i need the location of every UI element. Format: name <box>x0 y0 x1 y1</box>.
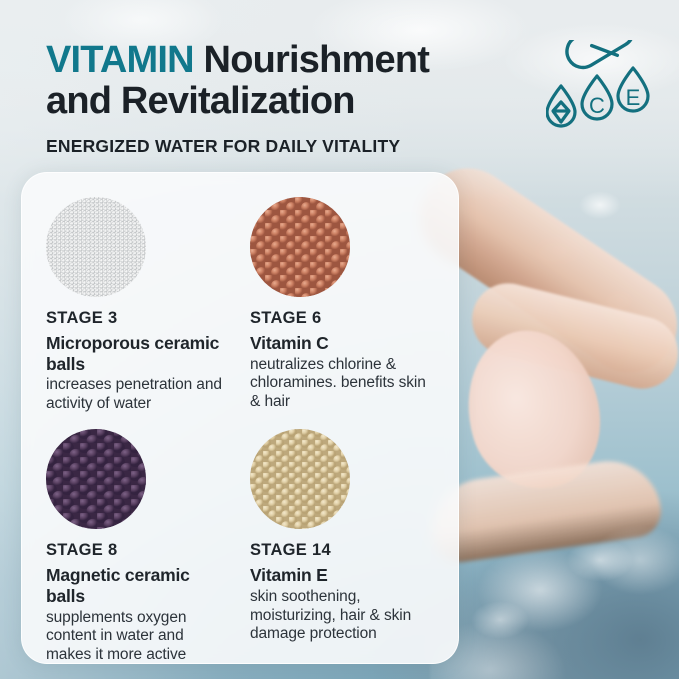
stage-name: Magnetic ceramic balls <box>46 565 232 606</box>
stage-desc: supplements oxygen content in water and … <box>46 609 232 665</box>
water-drop-gem-icon <box>547 86 575 126</box>
capsule-pill-icon <box>561 40 639 73</box>
bead-texture <box>46 197 146 297</box>
stage-name: Vitamin C <box>250 333 436 354</box>
stage-name: Vitamin E <box>250 565 436 586</box>
vitamin-e-balls-swatch <box>250 429 350 529</box>
microporous-ceramic-balls-swatch <box>46 197 146 297</box>
stage-card-8: STAGE 8 Magnetic ceramic balls supplemen… <box>46 429 232 664</box>
stage-desc: skin soothening, moisturizing, hair & sk… <box>250 588 436 644</box>
water-drop-c-icon: C <box>582 76 612 119</box>
water-drop-e-icon: E <box>618 68 648 111</box>
stages-grid: STAGE 3 Microporous ceramic balls increa… <box>46 197 436 647</box>
stage-card-14: STAGE 14 Vitamin E skin soothening, mois… <box>250 429 436 664</box>
title-line-2: and Revitalization <box>46 80 355 122</box>
stage-card-3: STAGE 3 Microporous ceramic balls increa… <box>46 197 232 413</box>
header: VITAMIN Nourishment and Revitalization E… <box>46 40 546 157</box>
page-subtitle: ENERGIZED WATER FOR DAILY VITALITY <box>46 136 546 157</box>
stage-label: STAGE 6 <box>250 309 436 328</box>
bead-texture <box>250 429 350 529</box>
stage-label: STAGE 14 <box>250 541 436 560</box>
title-accent-word: VITAMIN <box>46 39 194 81</box>
svg-text:E: E <box>626 85 641 110</box>
stage-desc: increases penetration and activity of wa… <box>46 376 232 413</box>
bead-texture <box>250 197 350 297</box>
magnetic-ceramic-balls-swatch <box>46 429 146 529</box>
stages-card: STAGE 3 Microporous ceramic balls increa… <box>21 172 459 664</box>
title-rest: Nourishment <box>194 39 429 81</box>
stage-card-6: STAGE 6 Vitamin C neutralizes chlorine &… <box>250 197 436 413</box>
stage-name: Microporous ceramic balls <box>46 333 232 374</box>
page-title: VITAMIN Nourishment and Revitalization <box>46 40 546 122</box>
stage-label: STAGE 8 <box>46 541 232 560</box>
vitamin-c-balls-swatch <box>250 197 350 297</box>
stage-label: STAGE 3 <box>46 309 232 328</box>
infographic-page: VITAMIN Nourishment and Revitalization E… <box>0 0 679 679</box>
stage-desc: neutralizes chlorine & chloramines. bene… <box>250 356 436 412</box>
vitamin-icon-cluster: C E <box>546 40 658 145</box>
svg-text:C: C <box>589 93 605 118</box>
bead-texture <box>46 429 146 529</box>
